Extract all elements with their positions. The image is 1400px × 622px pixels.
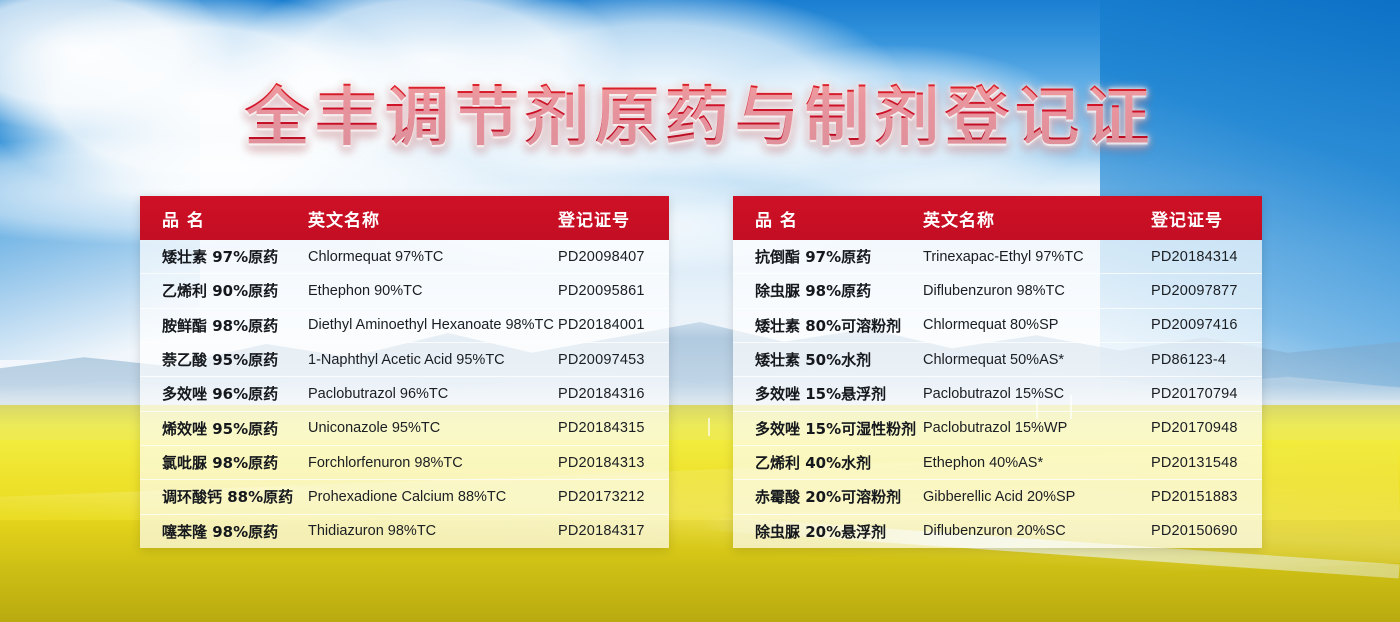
cell-reg-number: PD20097453 xyxy=(558,352,669,368)
cell-english-name: Diflubenzuron 20%SC xyxy=(923,523,1151,539)
cell-english-name: Chlormequat 50%AS* xyxy=(923,352,1151,368)
cell-product-name: 胺鲜酯 98%原药 xyxy=(140,315,308,336)
column-header-english-name: 英文名称 xyxy=(923,206,1151,231)
cell-product-name: 抗倒酯 97%原药 xyxy=(733,246,923,267)
cell-reg-number: PD20170948 xyxy=(1151,420,1262,436)
cell-product-name: 矮壮素 97%原药 xyxy=(140,246,308,267)
column-header-reg-number: 登记证号 xyxy=(1151,206,1262,231)
cell-reg-number: PD20184001 xyxy=(558,317,669,333)
cell-product-name: 萘乙酸 95%原药 xyxy=(140,349,308,370)
table-row[interactable]: 矮壮素 97%原药 Chlormequat 97%TC PD20098407 xyxy=(140,240,669,274)
cell-reg-number: PD20184314 xyxy=(1151,249,1262,265)
cell-english-name: Chlormequat 97%TC xyxy=(308,249,558,265)
table-body: 抗倒酯 97%原药 Trinexapac-Ethyl 97%TC PD20184… xyxy=(733,240,1262,548)
table-row[interactable]: 胺鲜酯 98%原药 Diethyl Aminoethyl Hexanoate 9… xyxy=(140,309,669,343)
poster-canvas: 全丰调节剂原药与制剂登记证 品 名 英文名称 登记证号 矮壮素 97%原药 Ch… xyxy=(0,0,1400,622)
column-header-english-name: 英文名称 xyxy=(308,206,558,231)
cell-english-name: Forchlorfenuron 98%TC xyxy=(308,455,558,471)
table-row[interactable]: 多效唑 15%悬浮剂 Paclobutrazol 15%SC PD2017079… xyxy=(733,377,1262,411)
column-header-reg-number: 登记证号 xyxy=(558,206,669,231)
cell-reg-number: PD20150690 xyxy=(1151,523,1262,539)
cell-product-name: 矮壮素 80%可溶粉剂 xyxy=(733,315,923,336)
column-header-product-name: 品 名 xyxy=(733,206,923,231)
cell-english-name: Paclobutrazol 15%SC xyxy=(923,386,1151,402)
table-header-row: 品 名 英文名称 登记证号 xyxy=(140,196,669,240)
cell-english-name: Prohexadione Calcium 88%TC xyxy=(308,489,558,505)
cell-reg-number: PD20151883 xyxy=(1151,489,1262,505)
table-row[interactable]: 抗倒酯 97%原药 Trinexapac-Ethyl 97%TC PD20184… xyxy=(733,240,1262,274)
cell-reg-number: PD20170794 xyxy=(1151,386,1262,402)
cell-reg-number: PD20097877 xyxy=(1151,283,1262,299)
cell-product-name: 除虫脲 20%悬浮剂 xyxy=(733,521,923,542)
cell-product-name: 矮壮素 50%水剂 xyxy=(733,349,923,370)
table-row[interactable]: 除虫脲 98%原药 Diflubenzuron 98%TC PD20097877 xyxy=(733,274,1262,308)
cell-product-name: 乙烯利 90%原药 xyxy=(140,280,308,301)
table-row[interactable]: 矮壮素 50%水剂 Chlormequat 50%AS* PD86123-4 xyxy=(733,343,1262,377)
table-row[interactable]: 多效唑 96%原药 Paclobutrazol 96%TC PD20184316 xyxy=(140,377,669,411)
cell-product-name: 多效唑 15%悬浮剂 xyxy=(733,383,923,404)
table-row[interactable]: 乙烯利 40%水剂 Ethephon 40%AS* PD20131548 xyxy=(733,446,1262,480)
table-row[interactable]: 噻苯隆 98%原药 Thidiazuron 98%TC PD20184317 xyxy=(140,515,669,548)
cell-english-name: Paclobutrazol 15%WP xyxy=(923,420,1151,436)
table-row[interactable]: 除虫脲 20%悬浮剂 Diflubenzuron 20%SC PD2015069… xyxy=(733,515,1262,548)
table-row[interactable]: 调环酸钙 88%原药 Prohexadione Calcium 88%TC PD… xyxy=(140,480,669,514)
cell-reg-number: PD20184315 xyxy=(558,420,669,436)
cell-reg-number: PD20098407 xyxy=(558,249,669,265)
cell-english-name: Diethyl Aminoethyl Hexanoate 98%TC xyxy=(308,317,558,333)
technical-grade-table: 品 名 英文名称 登记证号 矮壮素 97%原药 Chlormequat 97%T… xyxy=(140,196,669,548)
cell-product-name: 除虫脲 98%原药 xyxy=(733,280,923,301)
cell-reg-number: PD20095861 xyxy=(558,283,669,299)
cell-reg-number: PD20184317 xyxy=(558,523,669,539)
cell-product-name: 调环酸钙 88%原药 xyxy=(140,486,308,507)
cell-english-name: Ethephon 90%TC xyxy=(308,283,558,299)
formulation-table: 品 名 英文名称 登记证号 抗倒酯 97%原药 Trinexapac-Ethyl… xyxy=(733,196,1262,548)
cell-product-name: 烯效唑 95%原药 xyxy=(140,418,308,439)
table-row[interactable]: 萘乙酸 95%原药 1-Naphthyl Acetic Acid 95%TC P… xyxy=(140,343,669,377)
table-header-row: 品 名 英文名称 登记证号 xyxy=(733,196,1262,240)
cell-product-name: 多效唑 96%原药 xyxy=(140,383,308,404)
cell-reg-number: PD20097416 xyxy=(1151,317,1262,333)
table-row[interactable]: 氯吡脲 98%原药 Forchlorfenuron 98%TC PD201843… xyxy=(140,446,669,480)
table-row[interactable]: 多效唑 15%可湿性粉剂 Paclobutrazol 15%WP PD20170… xyxy=(733,412,1262,446)
page-title-container: 全丰调节剂原药与制剂登记证 xyxy=(0,66,1400,158)
page-title: 全丰调节剂原药与制剂登记证 xyxy=(245,66,1155,158)
cell-english-name: Trinexapac-Ethyl 97%TC xyxy=(923,249,1151,265)
certificate-tables: 品 名 英文名称 登记证号 矮壮素 97%原药 Chlormequat 97%T… xyxy=(140,196,1262,548)
table-row[interactable]: 烯效唑 95%原药 Uniconazole 95%TC PD20184315 xyxy=(140,412,669,446)
cell-english-name: Paclobutrazol 96%TC xyxy=(308,386,558,402)
cell-reg-number: PD86123-4 xyxy=(1151,352,1262,368)
cell-english-name: Thidiazuron 98%TC xyxy=(308,523,558,539)
cell-english-name: Ethephon 40%AS* xyxy=(923,455,1151,471)
table-row[interactable]: 矮壮素 80%可溶粉剂 Chlormequat 80%SP PD20097416 xyxy=(733,309,1262,343)
cell-english-name: Diflubenzuron 98%TC xyxy=(923,283,1151,299)
cell-product-name: 乙烯利 40%水剂 xyxy=(733,452,923,473)
cell-english-name: 1-Naphthyl Acetic Acid 95%TC xyxy=(308,352,558,368)
cell-reg-number: PD20184313 xyxy=(558,455,669,471)
cell-product-name: 噻苯隆 98%原药 xyxy=(140,521,308,542)
cell-product-name: 氯吡脲 98%原药 xyxy=(140,452,308,473)
column-header-product-name: 品 名 xyxy=(140,206,308,231)
cell-reg-number: PD20131548 xyxy=(1151,455,1262,471)
table-row[interactable]: 乙烯利 90%原药 Ethephon 90%TC PD20095861 xyxy=(140,274,669,308)
table-body: 矮壮素 97%原药 Chlormequat 97%TC PD20098407 乙… xyxy=(140,240,669,548)
cell-product-name: 多效唑 15%可湿性粉剂 xyxy=(733,418,923,439)
cell-english-name: Chlormequat 80%SP xyxy=(923,317,1151,333)
cell-product-name: 赤霉酸 20%可溶粉剂 xyxy=(733,486,923,507)
cell-english-name: Uniconazole 95%TC xyxy=(308,420,558,436)
cell-reg-number: PD20184316 xyxy=(558,386,669,402)
cell-english-name: Gibberellic Acid 20%SP xyxy=(923,489,1151,505)
cell-reg-number: PD20173212 xyxy=(558,489,669,505)
table-row[interactable]: 赤霉酸 20%可溶粉剂 Gibberellic Acid 20%SP PD201… xyxy=(733,480,1262,514)
